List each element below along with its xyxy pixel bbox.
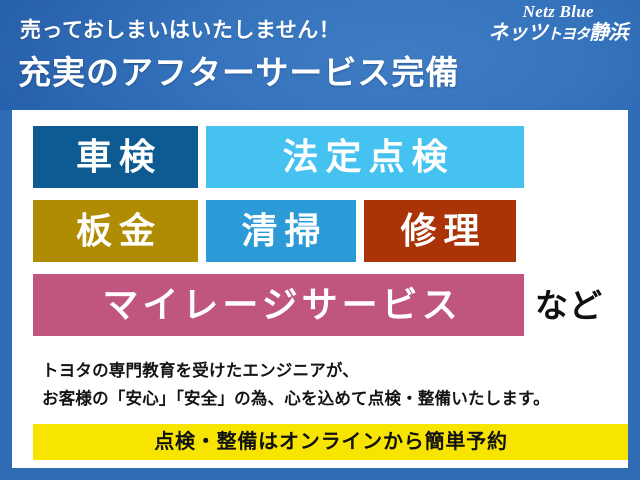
service-badge-bankin[interactable]: 板金 [33,200,198,262]
poster-root: 売っておしまいはいたしません！ 充実のアフターサービス完備 Netz Blue … [0,0,640,480]
service-badge-shaken[interactable]: 車検 [33,126,198,188]
service-row: 板金 清掃 修理 [33,200,613,262]
service-badge-houtei-tenken[interactable]: 法定点検 [206,126,524,188]
service-row: マイレージサービス など [33,274,613,336]
header-tagline: 売っておしまいはいたしません！ [20,14,340,44]
service-row: 車検 法定点検 [33,126,613,188]
description-line-2: お客様の「安心」「安全」の為、心を込めて点検・整備いたします。 [42,385,612,413]
online-booking-cta-label: 点検・整備はオンラインから簡単予約 [154,432,508,452]
online-booking-cta[interactable]: 点検・整備はオンラインから簡単予約 [33,424,628,460]
brand-jp-netz: ネッツ [488,22,547,44]
brand-jp-toyota: トヨタ [547,26,589,43]
service-badge-list: 車検 法定点検 板金 清掃 修理 マイレージサービス など [33,126,613,348]
description-text: トヨタの専門教育を受けたエンジニアが、 お客様の「安心」「安全」の為、心を込めて… [42,357,612,414]
content-panel: 車検 法定点検 板金 清掃 修理 マイレージサービス など トヨタの専門教育を受… [12,110,628,468]
page-title: 充実のアフターサービス完備 [18,46,459,94]
service-badge-shuuri[interactable]: 修理 [364,200,516,262]
service-list-suffix: など [535,289,603,322]
header-banner: 売っておしまいはいたしません！ 充実のアフターサービス完備 Netz Blue … [0,0,640,110]
brand-logo: Netz Blue ネッツトヨタ静浜 [488,3,628,45]
service-badge-mileage-service[interactable]: マイレージサービス [33,274,524,336]
service-badge-seisou[interactable]: 清掃 [206,200,356,262]
brand-name-english: Netz Blue [488,3,628,21]
brand-jp-shizuhama: 静浜 [589,22,628,44]
brand-name-japanese: ネッツトヨタ静浜 [488,22,628,45]
description-line-1: トヨタの専門教育を受けたエンジニアが、 [42,357,612,385]
